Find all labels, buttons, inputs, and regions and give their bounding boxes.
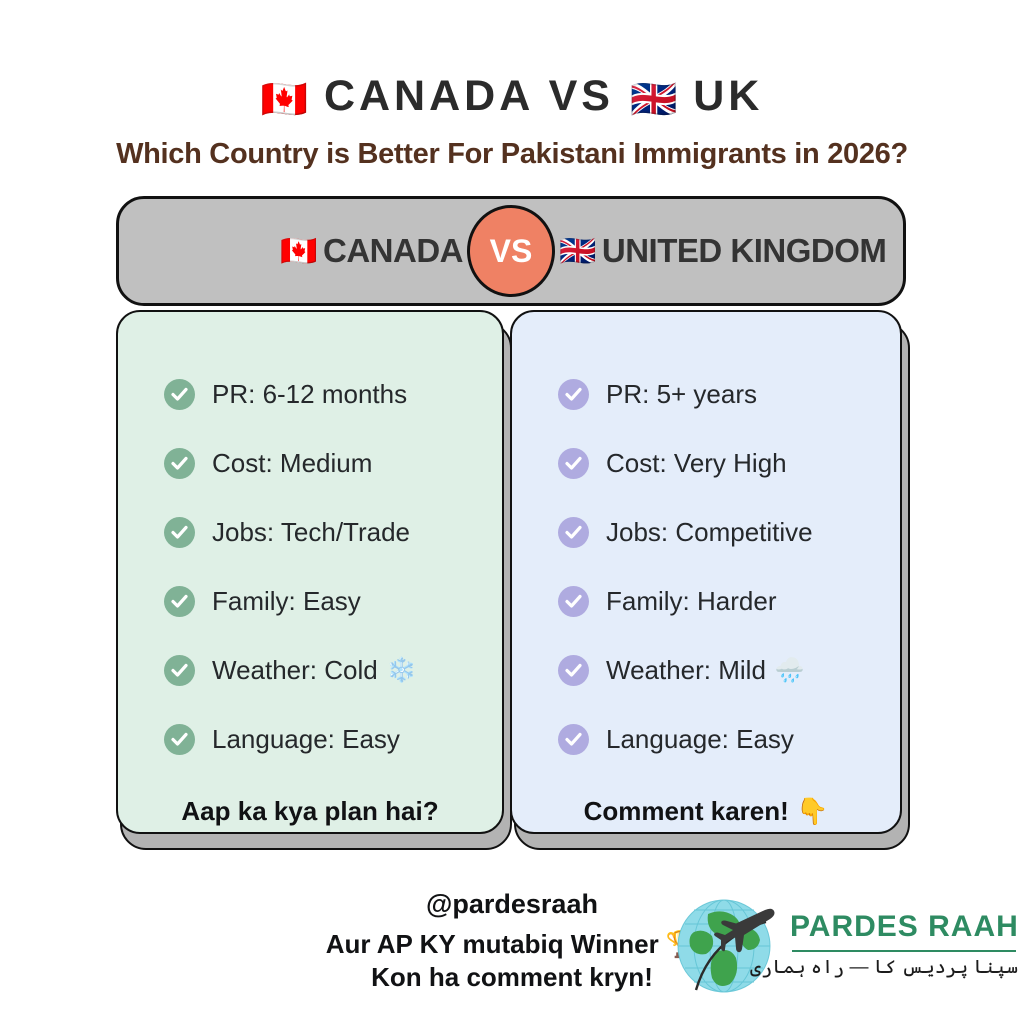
logo-wordmark: PARDES RAAH [790,910,1019,944]
logo-tagline-urdu: سپنا پردیس کا — راہ ہماری [790,956,1018,979]
check-icon [558,655,589,686]
check-icon [164,655,195,686]
page-title-text-a: CANADA VS [324,72,614,120]
list-item: PR: 6-12 months [164,360,502,429]
list-item-label: PR: 6-12 months [212,379,407,410]
list-item-label: Weather: Mild [606,655,766,686]
vs-badge: VS [467,205,555,297]
list-item: Weather: Mild 🌧️ [558,636,900,705]
page-title: 🇨🇦 CANADA VS 🇬🇧 UK [0,72,1024,122]
check-icon [558,448,589,479]
list-item: Cost: Medium [164,429,502,498]
canada-panel: PR: 6-12 months Cost: Medium Jobs: Tech/… [116,310,504,834]
check-icon [164,586,195,617]
header-uk-label: UNITED KINGDOM [602,232,887,270]
uk-cta: Comment karen! 👇 [512,796,900,827]
list-item: Language: Easy [558,705,900,774]
list-item: Family: Harder [558,567,900,636]
uk-feature-list: PR: 5+ years Cost: Very High Jobs: Compe… [512,360,900,774]
page-subtitle: Which Country is Better For Pakistani Im… [0,138,1024,171]
check-icon [164,379,195,410]
list-item-label: Jobs: Tech/Trade [212,517,410,548]
list-item: Language: Easy [164,705,502,774]
uk-flag-icon: 🇬🇧 [559,234,596,269]
check-icon [558,724,589,755]
canada-flag-icon: 🇨🇦 [280,234,317,269]
list-item-label: Weather: Cold [212,655,378,686]
check-icon [164,517,195,548]
list-item: Jobs: Tech/Trade [164,498,502,567]
uk-panel: PR: 5+ years Cost: Very High Jobs: Compe… [510,310,902,834]
list-item-label: Cost: Very High [606,448,787,479]
list-item: Jobs: Competitive [558,498,900,567]
header-canada-label: CANADA [323,232,463,270]
list-item-label: PR: 5+ years [606,379,757,410]
list-item-label: Language: Easy [606,724,794,755]
check-icon [558,379,589,410]
header-uk: 🇬🇧 UNITED KINGDOM [515,232,903,270]
page-title-text-b: UK [693,72,763,120]
check-icon [558,586,589,617]
check-icon [164,724,195,755]
list-item-label: Jobs: Competitive [606,517,813,548]
list-item: Cost: Very High [558,429,900,498]
card-header-bar: 🇨🇦 CANADA 🇬🇧 UNITED KINGDOM VS [116,196,906,306]
canada-flag-icon: 🇨🇦 [261,79,308,121]
list-item: PR: 5+ years [558,360,900,429]
check-icon [164,448,195,479]
list-item-label: Language: Easy [212,724,400,755]
comparison-card: PR: 6-12 months Cost: Medium Jobs: Tech/… [110,196,916,860]
globe-plane-icon [672,894,780,1003]
footer: @pardesraah Aur AP KY mutabiq Winner 🏆 K… [0,880,1024,1023]
list-item-label: Cost: Medium [212,448,372,479]
canada-cta: Aap ka kya plan hai? [118,796,502,827]
canada-feature-list: PR: 6-12 months Cost: Medium Jobs: Tech/… [118,360,502,774]
logo-divider [792,950,1016,952]
snowflake-icon: ❄️ [387,656,417,685]
rain-cloud-icon: 🌧️ [775,656,805,685]
list-item: Family: Easy [164,567,502,636]
uk-flag-icon: 🇬🇧 [630,79,677,121]
list-item: Weather: Cold ❄️ [164,636,502,705]
brand-logo: PARDES RAAH سپنا پردیس کا — راہ ہماری [672,894,1020,998]
list-item-label: Family: Easy [212,586,361,617]
list-item-label: Family: Harder [606,586,776,617]
check-icon [558,517,589,548]
header-canada: 🇨🇦 CANADA [119,232,515,270]
